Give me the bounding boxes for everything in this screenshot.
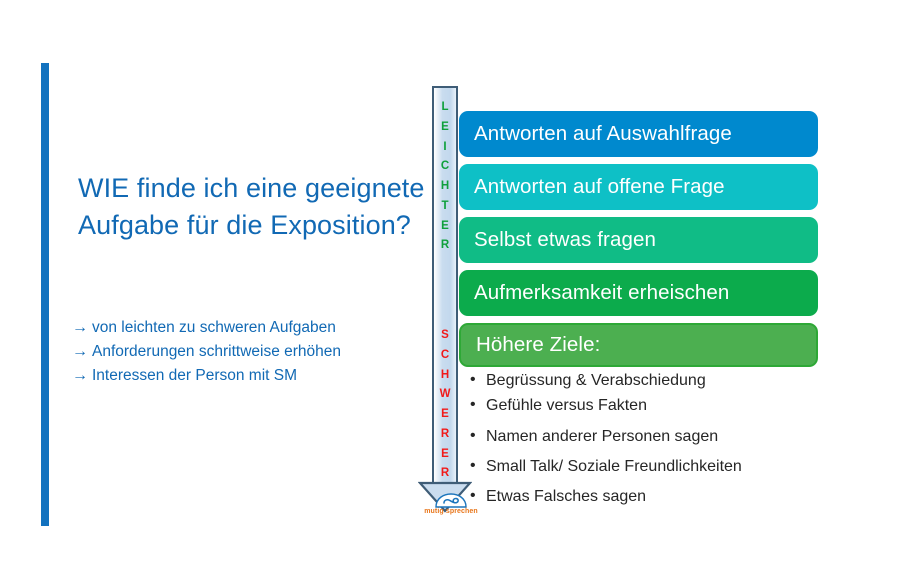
- arrow-letter: W: [432, 385, 458, 405]
- difficulty-boxes: Antworten auf Auswahlfrage Antworten auf…: [459, 111, 818, 374]
- arrow-letter: R: [432, 464, 458, 484]
- arrow-letter: S: [432, 326, 458, 346]
- list-item: Gefühle versus Fakten: [468, 394, 818, 417]
- list-item: → von leichten zu schweren Aufgaben: [72, 316, 442, 340]
- slide-canvas: WIE finde ich eine geeignete Aufgabe für…: [0, 0, 920, 570]
- list-item: → Interessen der Person mit SM: [72, 364, 442, 388]
- right-arrow-icon: →: [72, 364, 92, 388]
- left-accent-bar: [41, 63, 49, 526]
- arrow-letter: I: [432, 138, 458, 158]
- left-arrow-list: → von leichten zu schweren Aufgaben → An…: [72, 316, 442, 387]
- arrow-letter: C: [432, 157, 458, 177]
- arrow-label-schwerer: S C H W E R E R: [432, 326, 458, 484]
- arrow-letter: H: [432, 366, 458, 386]
- arrow-letter: H: [432, 177, 458, 197]
- arrow-label-leichter: L E I C H T E R: [432, 98, 458, 256]
- arrow-letter: T: [432, 197, 458, 217]
- list-item: Etwas Falsches sagen: [468, 485, 818, 508]
- list-item-label: Interessen der Person mit SM: [92, 365, 297, 388]
- difficulty-box-higher-goals[interactable]: Höhere Ziele:: [459, 323, 818, 367]
- right-arrow-icon: →: [72, 316, 92, 340]
- arrow-letter: L: [432, 98, 458, 118]
- difficulty-box[interactable]: Selbst etwas fragen: [459, 217, 818, 263]
- speech-bubble-icon: [434, 493, 468, 508]
- list-item: Namen anderer Personen sagen: [468, 425, 818, 448]
- page-title: WIE finde ich eine geeignete Aufgabe für…: [78, 170, 428, 245]
- list-item: Small Talk/ Soziale Freundlichkeiten: [468, 455, 818, 478]
- arrow-letter: R: [432, 236, 458, 256]
- arrow-letter: R: [432, 425, 458, 445]
- arrow-letter: E: [432, 445, 458, 465]
- difficulty-box[interactable]: Aufmerksamkeit erheischen: [459, 270, 818, 316]
- higher-goals-list: Begrüssung & Verabschiedung Gefühle vers…: [468, 369, 818, 511]
- difficulty-box[interactable]: Antworten auf Auswahlfrage: [459, 111, 818, 157]
- list-item: → Anforderungen schrittweise erhöhen: [72, 340, 442, 364]
- difficulty-box[interactable]: Antworten auf offene Frage: [459, 164, 818, 210]
- arrow-letter: E: [432, 405, 458, 425]
- arrow-letter: E: [432, 217, 458, 237]
- list-item: Begrüssung & Verabschiedung: [468, 369, 818, 392]
- right-arrow-icon: →: [72, 340, 92, 364]
- arrow-letter: E: [432, 118, 458, 138]
- arrow-letter: C: [432, 346, 458, 366]
- list-item-label: von leichten zu schweren Aufgaben: [92, 317, 336, 340]
- list-item-label: Anforderungen schrittweise erhöhen: [92, 341, 341, 364]
